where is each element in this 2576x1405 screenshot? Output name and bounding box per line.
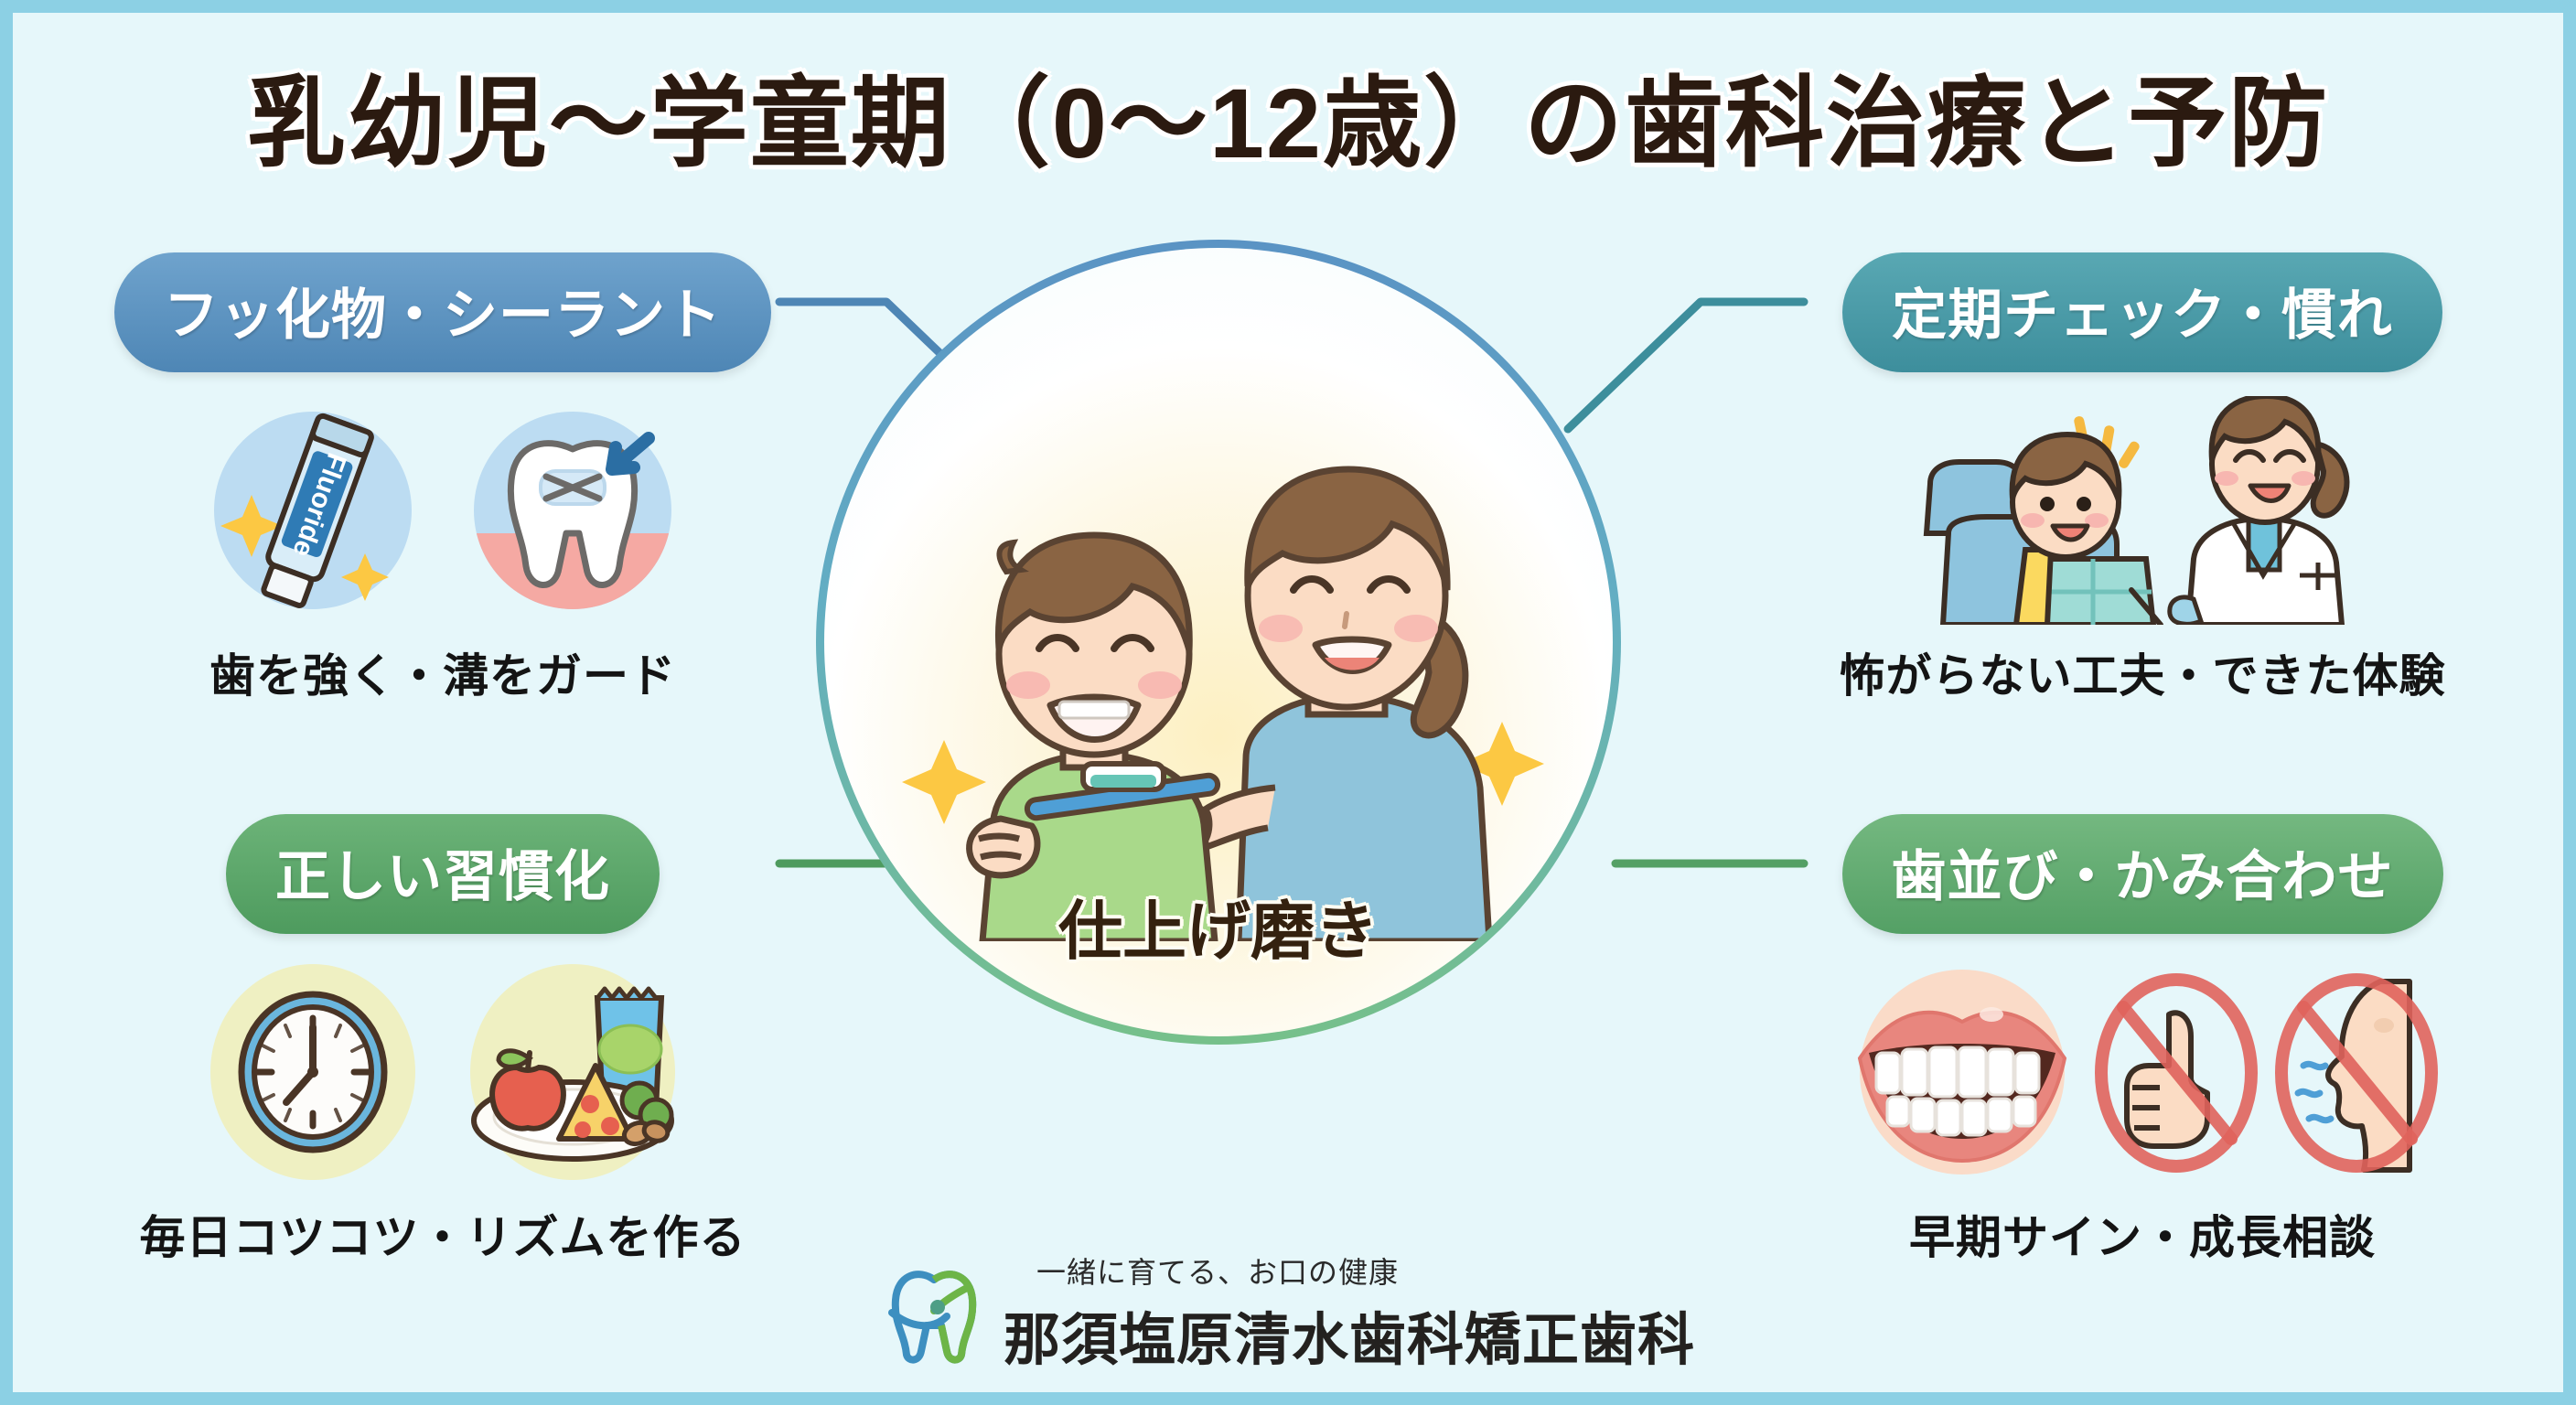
icon-row-top-left: Fluoride	[113, 396, 772, 625]
caption-top-right: 怖がらない工夫・できた体験	[1795, 639, 2490, 705]
footer: 一緒に育てる、お口の健康 那須塩原清水歯科矯正歯科	[13, 1249, 2563, 1376]
center-label: 仕上げ磨き	[824, 880, 1613, 972]
pill-alignment-bite[interactable]: 歯並び・かみ合わせ	[1842, 814, 2443, 934]
sealant-tooth-icon	[458, 396, 687, 625]
pill-regular-checkup[interactable]: 定期チェック・慣れ	[1842, 252, 2442, 372]
icon-row-top-right	[1795, 396, 2490, 625]
wall-clock-icon	[199, 958, 427, 1186]
dentist-and-child-in-chair-icon	[1886, 396, 2399, 625]
caption-top-left: 歯を強く・溝をガード	[113, 639, 772, 705]
quadrant-bottom-left: 正しい習慣化	[113, 814, 772, 1267]
pill-fluoride-sealant[interactable]: フッ化物・シーラント	[114, 252, 771, 372]
icon-row-bottom-left	[113, 958, 772, 1186]
footer-text: 一緒に育てる、お口の健康 那須塩原清水歯科矯正歯科	[1004, 1249, 1695, 1376]
poster-canvas: 乳幼児〜学童期（0〜12歳）の歯科治療と予防	[13, 13, 2563, 1392]
aligned-teeth-smile-icon	[1843, 958, 2081, 1186]
poster-frame: 乳幼児〜学童期（0〜12歳）の歯科治療と予防	[0, 0, 2576, 1405]
quadrant-top-left: フッ化物・シーラント Fluoride	[113, 252, 772, 705]
fluoride-toothpaste-tube-icon: Fluoride	[199, 396, 427, 625]
tooth-with-person-logo-icon	[881, 1260, 987, 1366]
icon-row-bottom-right	[1795, 958, 2490, 1186]
center-circle: 仕上げ磨き	[816, 240, 1621, 1045]
balanced-meal-plate-icon	[458, 958, 687, 1186]
parent-brushing-child-teeth-icon	[880, 374, 1557, 941]
no-mouth-breathing-icon	[2272, 958, 2442, 1186]
quadrant-top-right: 定期チェック・慣れ	[1795, 252, 2490, 705]
pill-healthy-habits[interactable]: 正しい習慣化	[226, 814, 660, 934]
footer-tagline: 一緒に育てる、お口の健康	[1004, 1249, 1695, 1292]
footer-clinic-name: 那須塩原清水歯科矯正歯科	[1004, 1293, 1695, 1376]
page-title: 乳幼児〜学童期（0〜12歳）の歯科治療と予防	[13, 44, 2563, 187]
no-thumb-sucking-icon	[2092, 958, 2261, 1186]
quadrant-bottom-right: 歯並び・かみ合わせ	[1795, 814, 2490, 1267]
center-circle-inner: 仕上げ磨き	[824, 248, 1613, 1036]
